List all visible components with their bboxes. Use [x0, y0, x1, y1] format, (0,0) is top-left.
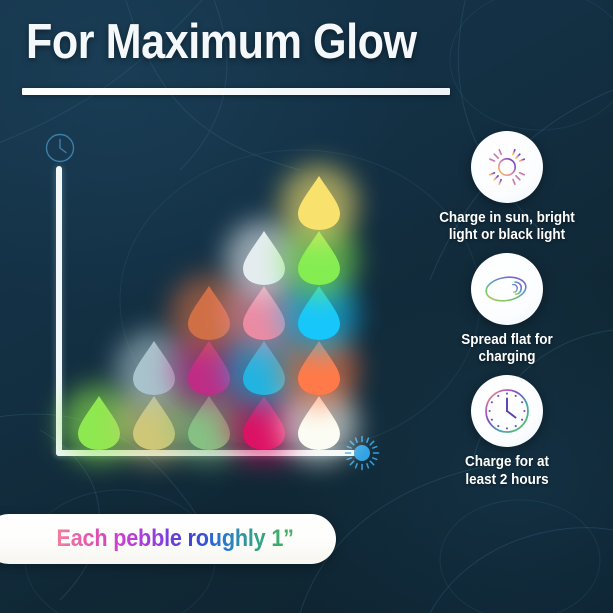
clock-icon — [483, 387, 531, 435]
spread-pebble-icon — [482, 269, 532, 309]
feature-item-spread-flat: Spread flat for charging — [414, 253, 600, 366]
pebble-chart — [34, 130, 394, 475]
sun-icon-badge — [471, 131, 543, 203]
page-title: For Maximum Glow — [26, 18, 417, 68]
sun-icon — [484, 144, 530, 190]
size-banner: Each pebble roughly 1” — [0, 514, 336, 564]
pebble-grid — [34, 130, 394, 475]
bright-green-pebble — [78, 396, 120, 450]
feature-label: Charge for at least 2 hours — [421, 454, 594, 488]
pale-blue-grey-pebble — [133, 341, 175, 395]
feature-list: Charge in sun, bright light or black lig… — [414, 131, 600, 498]
infographic-canvas: For Maximum Glow — [0, 0, 613, 613]
size-banner-text: Each pebble roughly 1” — [26, 525, 294, 553]
white-blue-pebble — [243, 231, 285, 285]
yellow-pebble — [298, 176, 340, 230]
feature-label: Spread flat for charging — [421, 332, 594, 366]
feature-item-charge-2-hours: Charge for at least 2 hours — [414, 375, 600, 488]
feature-item-charge-in-sun: Charge in sun, bright light or black lig… — [414, 131, 600, 244]
spread-pebble-icon-badge — [471, 253, 543, 325]
terracotta-pebble — [188, 286, 230, 340]
clock-icon-badge — [471, 375, 543, 447]
title-underline — [22, 88, 450, 95]
feature-label: Charge in sun, bright light or black lig… — [421, 210, 594, 244]
